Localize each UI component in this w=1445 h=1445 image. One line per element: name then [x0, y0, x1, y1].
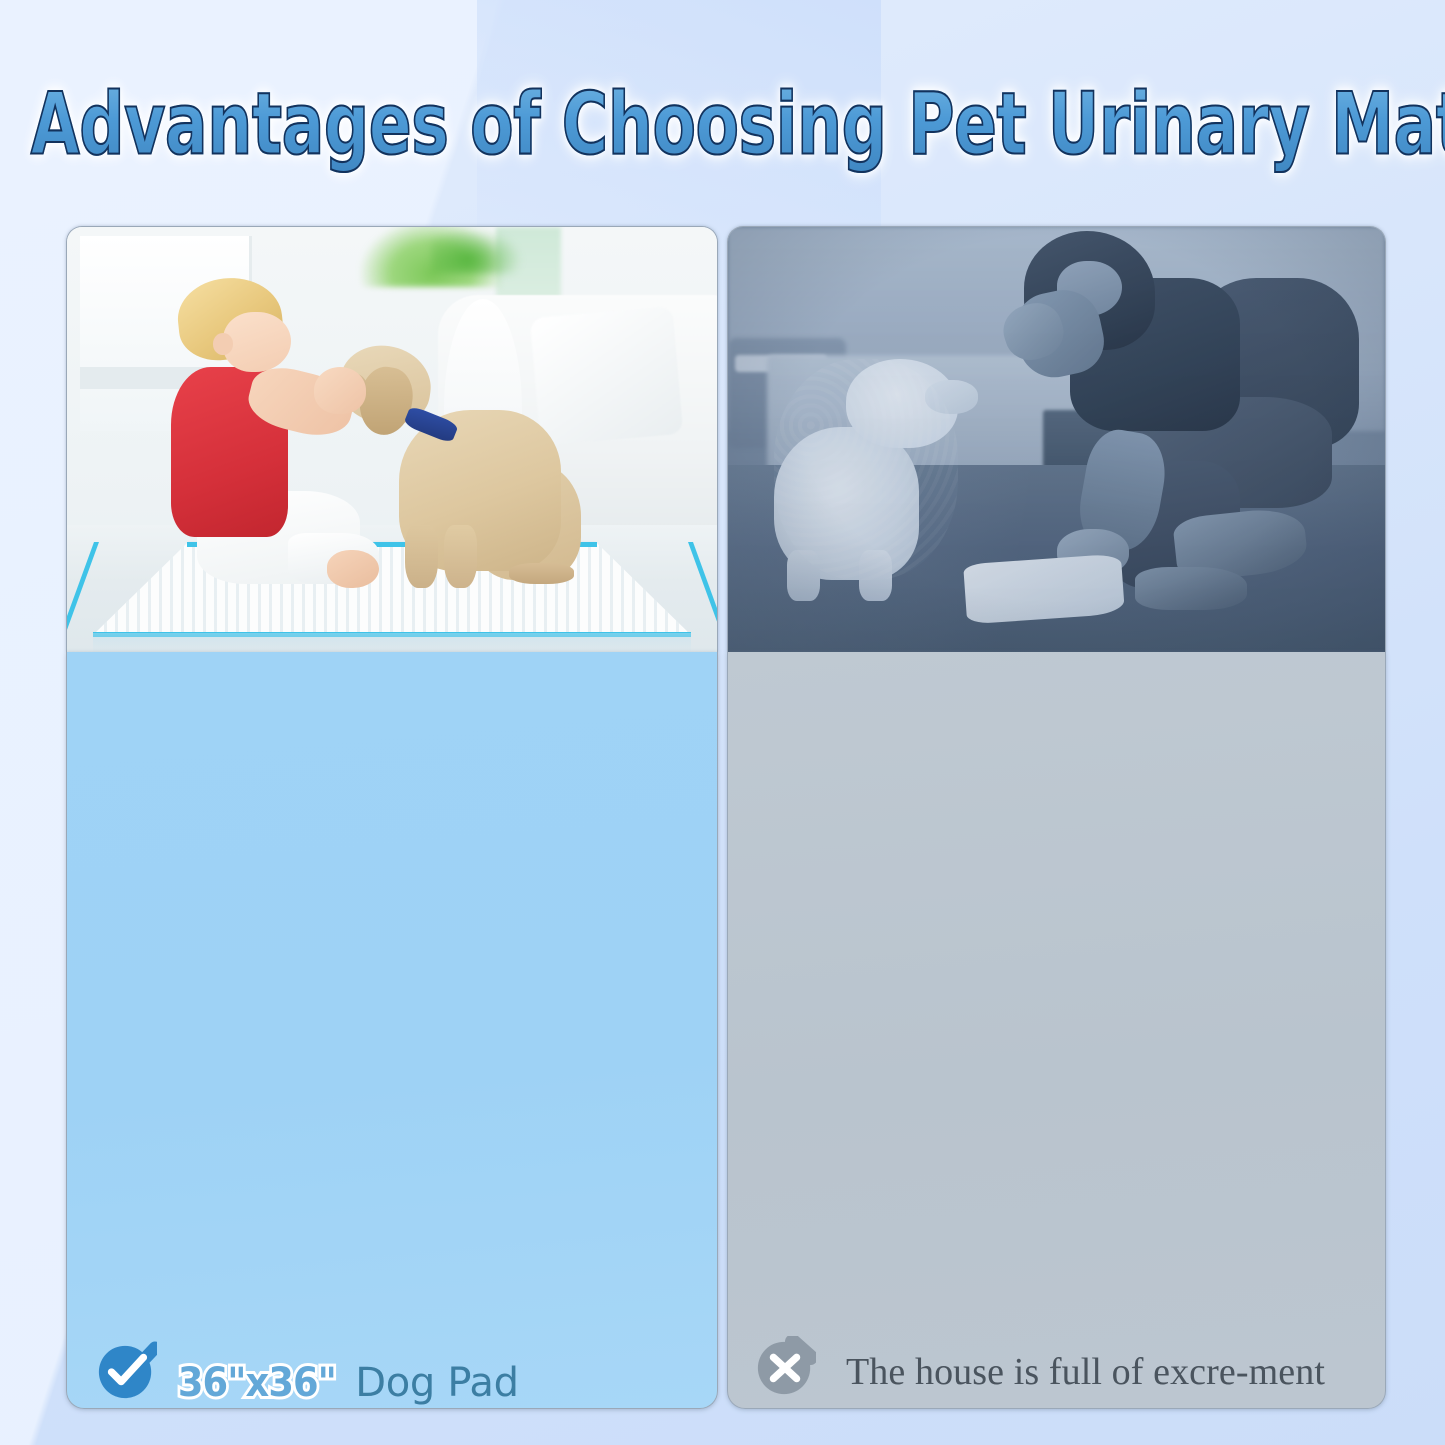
disadvantage-item: The house is full of excre-ment	[754, 1342, 1375, 1402]
boy-foot	[327, 550, 379, 588]
disadvantages-panel: The house is full of excre-mentThe feet …	[727, 652, 1386, 1409]
puppy-back-leg	[444, 525, 477, 589]
advantages-list: 36"x36" Dog PadRapid absorption in 3sAbs…	[67, 652, 717, 1408]
puppy-paw	[509, 563, 574, 584]
cushion	[530, 306, 684, 445]
boy-hand	[314, 367, 366, 414]
page-title-container: Advantages of Choosing Pet Urinary Mats	[0, 74, 1445, 151]
check-circle-icon	[95, 1340, 157, 1402]
plant-leaves	[431, 227, 522, 274]
disadvantages-photo	[727, 226, 1386, 652]
advantage-item: 36"x36" Dog Pad	[95, 1346, 709, 1409]
advantage-text: 36"x36" Dog Pad	[171, 1346, 519, 1409]
boy-ear	[213, 333, 233, 354]
plain-text: Dog Pad	[343, 1360, 519, 1406]
disadvantage-line: The house is full of excre-ment	[846, 1351, 1325, 1393]
boy-face	[223, 312, 291, 372]
page-title: Advantages of Choosing Pet Urinary Mats	[31, 74, 1445, 174]
photo-vignette	[728, 227, 1385, 652]
advantages-column: 36"x36" Dog PadRapid absorption in 3sAbs…	[66, 226, 716, 1409]
living-room-scene	[67, 227, 717, 652]
cleaning-scene	[728, 227, 1385, 652]
advantages-panel: 36"x36" Dog PadRapid absorption in 3sAbs…	[66, 652, 718, 1409]
disadvantages-list: The house is full of excre-mentThe feet …	[728, 652, 1385, 1408]
advantages-photo	[66, 226, 718, 652]
x-circle-icon	[754, 1336, 816, 1398]
highlight-value: 36"x36"	[178, 1346, 336, 1409]
pet-pad-texture	[93, 542, 691, 636]
disadvantages-column: The house is full of excre-mentThe feet …	[727, 226, 1384, 1409]
disadvantage-text: The house is full of excre-ment	[846, 1342, 1325, 1402]
puppy-front-leg	[405, 525, 438, 589]
floor-reflection	[93, 633, 691, 652]
